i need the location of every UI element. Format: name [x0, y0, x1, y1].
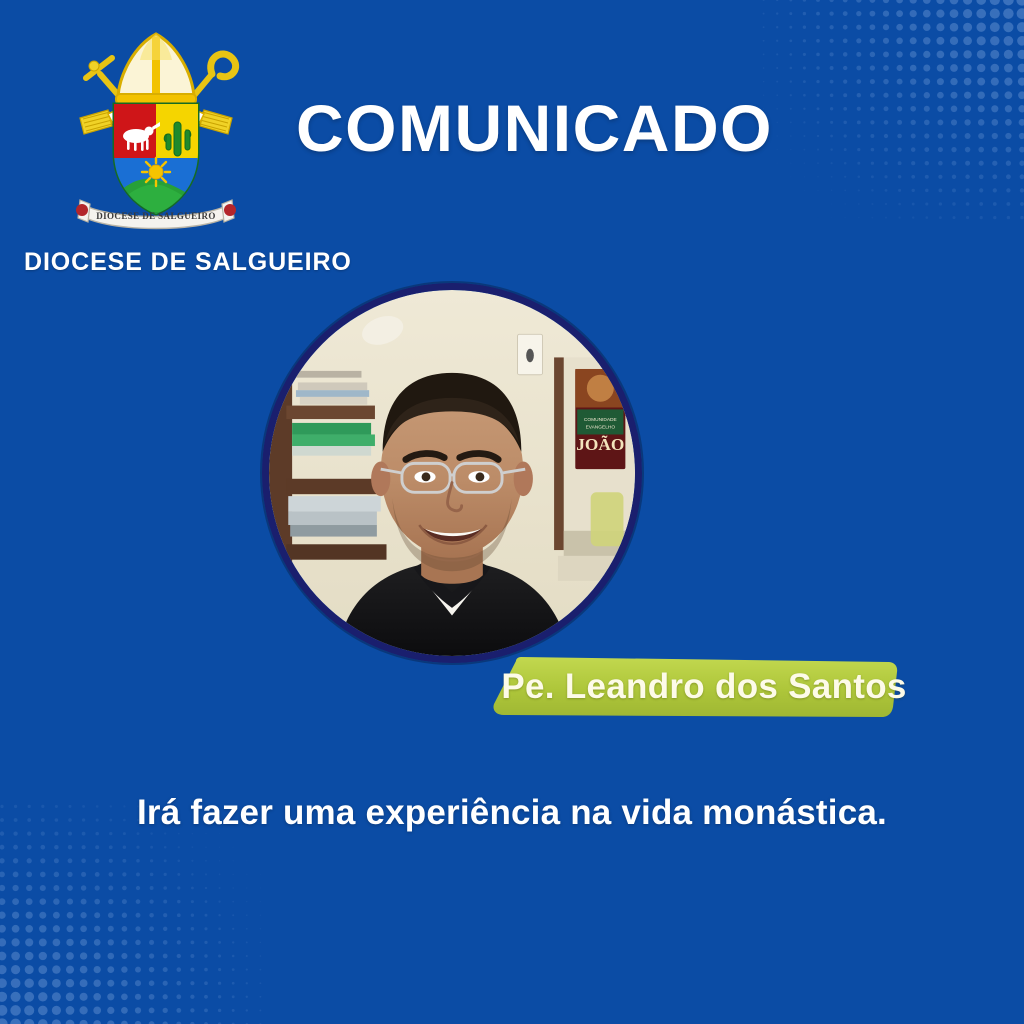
- priest-portrait-photo: COMUNIDADE EVANGELHO JOÃO: [269, 290, 635, 656]
- announcement-caption: Irá fazer uma experiência na vida monást…: [0, 793, 1024, 833]
- name-banner: Pe. Leandro dos Santos: [490, 657, 900, 719]
- svg-text:EVANGELHO: EVANGELHO: [586, 425, 616, 431]
- priest-name-label: Pe. Leandro dos Santos: [490, 657, 900, 719]
- diocese-name-label: DIOCESE DE SALGUEIRO: [24, 248, 352, 277]
- svg-text:COMUNIDADE: COMUNIDADE: [584, 417, 617, 423]
- svg-text:JOÃO: JOÃO: [576, 435, 624, 454]
- diocesan-coat-of-arms-icon: DIOCESE DE SALGUEIRO: [56, 22, 256, 234]
- halftone-dots-top-right: [758, 0, 1024, 224]
- portrait-frame: COMUNIDADE EVANGELHO JOÃO: [262, 283, 642, 663]
- halftone-dots-bottom-left: [0, 800, 266, 1024]
- page-title: COMUNICADO: [296, 95, 773, 161]
- comunicado-poster: DIOCESE DE SALGUEIRO DIOCESE DE SALGUEIR…: [0, 0, 1024, 1024]
- crest-scroll-text: DIOCESE DE SALGUEIRO: [96, 211, 216, 221]
